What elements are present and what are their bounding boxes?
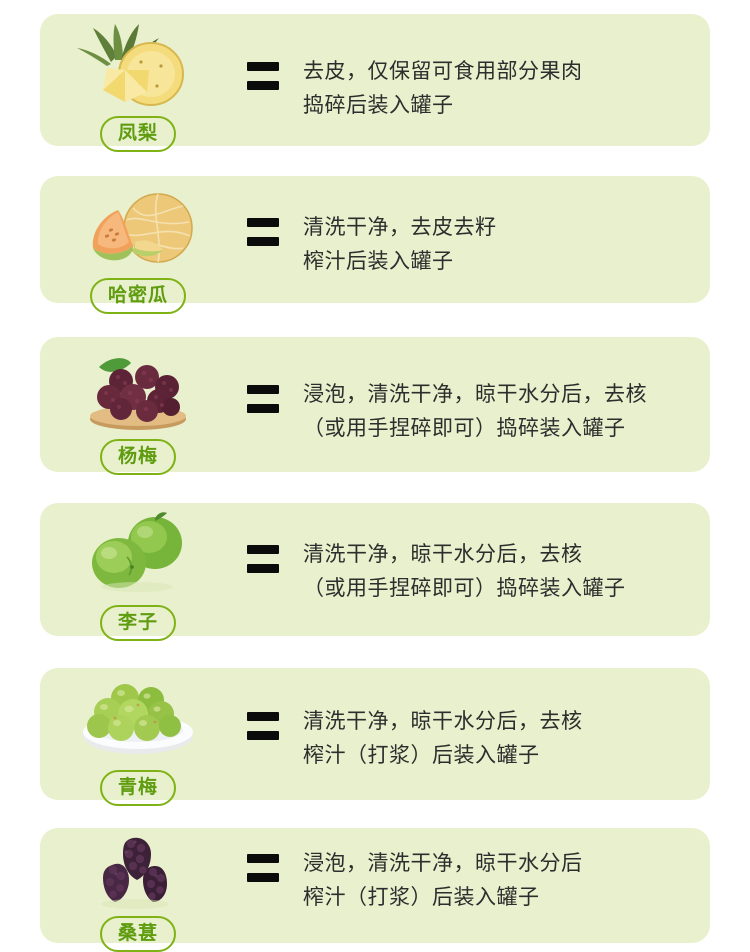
equals-icon — [247, 62, 279, 90]
green-plum-image — [63, 672, 213, 768]
step-line: （或用手捏碎即可）捣碎装入罐子 — [303, 571, 694, 605]
fruit-image-column: 杨梅 — [48, 337, 228, 472]
equals-icon — [247, 712, 279, 740]
fruit-card: 青梅 清洗干净，晾干水分后，去核 榨汁（打浆）后装入罐子 — [40, 668, 710, 800]
preparation-steps: 浸泡，清洗干净，晾干水分后 榨汁（打浆）后装入罐子 — [303, 846, 694, 914]
step-line: 清洗干净，去皮去籽 — [303, 210, 694, 244]
step-line: 去皮，仅保留可食用部分果肉 — [303, 54, 694, 88]
fruit-image-column: 青梅 — [48, 668, 228, 800]
plum-image — [63, 507, 213, 603]
preparation-steps: 清洗干净，去皮去籽 榨汁后装入罐子 — [303, 210, 694, 278]
equals-icon — [247, 218, 279, 246]
preparation-steps: 清洗干净，晾干水分后，去核 （或用手捏碎即可）捣碎装入罐子 — [303, 537, 694, 605]
bayberry-image — [63, 341, 213, 437]
pineapple-image — [63, 18, 213, 114]
fruit-name-pill: 青梅 — [100, 770, 176, 806]
fruit-card: 杨梅 浸泡，清洗干净，晾干水分后，去核 （或用手捏碎即可）捣碎装入罐子 — [40, 337, 710, 472]
step-line: （或用手捏碎即可）捣碎装入罐子 — [303, 411, 694, 445]
equals-icon — [247, 385, 279, 413]
equals-icon — [247, 545, 279, 573]
step-line: 榨汁后装入罐子 — [303, 244, 694, 278]
preparation-steps: 清洗干净，晾干水分后，去核 榨汁（打浆）后装入罐子 — [303, 704, 694, 772]
step-line: 浸泡，清洗干净，晾干水分后 — [303, 846, 694, 880]
fruit-image-column: 桑葚 — [48, 828, 228, 943]
fruit-name-pill: 凤梨 — [100, 116, 176, 152]
fruit-image-column: 哈密瓜 — [48, 176, 228, 303]
fruit-image-column: 凤梨 — [48, 14, 228, 146]
fruit-name-pill: 杨梅 — [100, 439, 176, 475]
preparation-steps: 去皮，仅保留可食用部分果肉 捣碎后装入罐子 — [303, 54, 694, 122]
step-line: 榨汁（打浆）后装入罐子 — [303, 738, 694, 772]
cantaloupe-image — [63, 180, 213, 276]
preparation-steps: 浸泡，清洗干净，晾干水分后，去核 （或用手捏碎即可）捣碎装入罐子 — [303, 377, 694, 445]
step-line: 榨汁（打浆）后装入罐子 — [303, 880, 694, 914]
mulberry-image — [63, 832, 213, 914]
step-line: 清洗干净，晾干水分后，去核 — [303, 704, 694, 738]
fruit-card: 哈密瓜 清洗干净，去皮去籽 榨汁后装入罐子 — [40, 176, 710, 303]
equals-icon — [247, 854, 279, 882]
step-line: 浸泡，清洗干净，晾干水分后，去核 — [303, 377, 694, 411]
fruit-name-pill: 桑葚 — [100, 916, 176, 952]
fruit-image-column: 李子 — [48, 503, 228, 636]
fruit-card: 桑葚 浸泡，清洗干净，晾干水分后 榨汁（打浆）后装入罐子 — [40, 828, 710, 943]
fruit-name-pill: 哈密瓜 — [90, 278, 186, 314]
fruit-preparation-infographic: 凤梨 去皮，仅保留可食用部分果肉 捣碎后装入罐子 — [0, 0, 750, 949]
step-line: 清洗干净，晾干水分后，去核 — [303, 537, 694, 571]
fruit-card: 李子 清洗干净，晾干水分后，去核 （或用手捏碎即可）捣碎装入罐子 — [40, 503, 710, 636]
fruit-card: 凤梨 去皮，仅保留可食用部分果肉 捣碎后装入罐子 — [40, 14, 710, 146]
step-line: 捣碎后装入罐子 — [303, 88, 694, 122]
fruit-name-pill: 李子 — [100, 605, 176, 641]
